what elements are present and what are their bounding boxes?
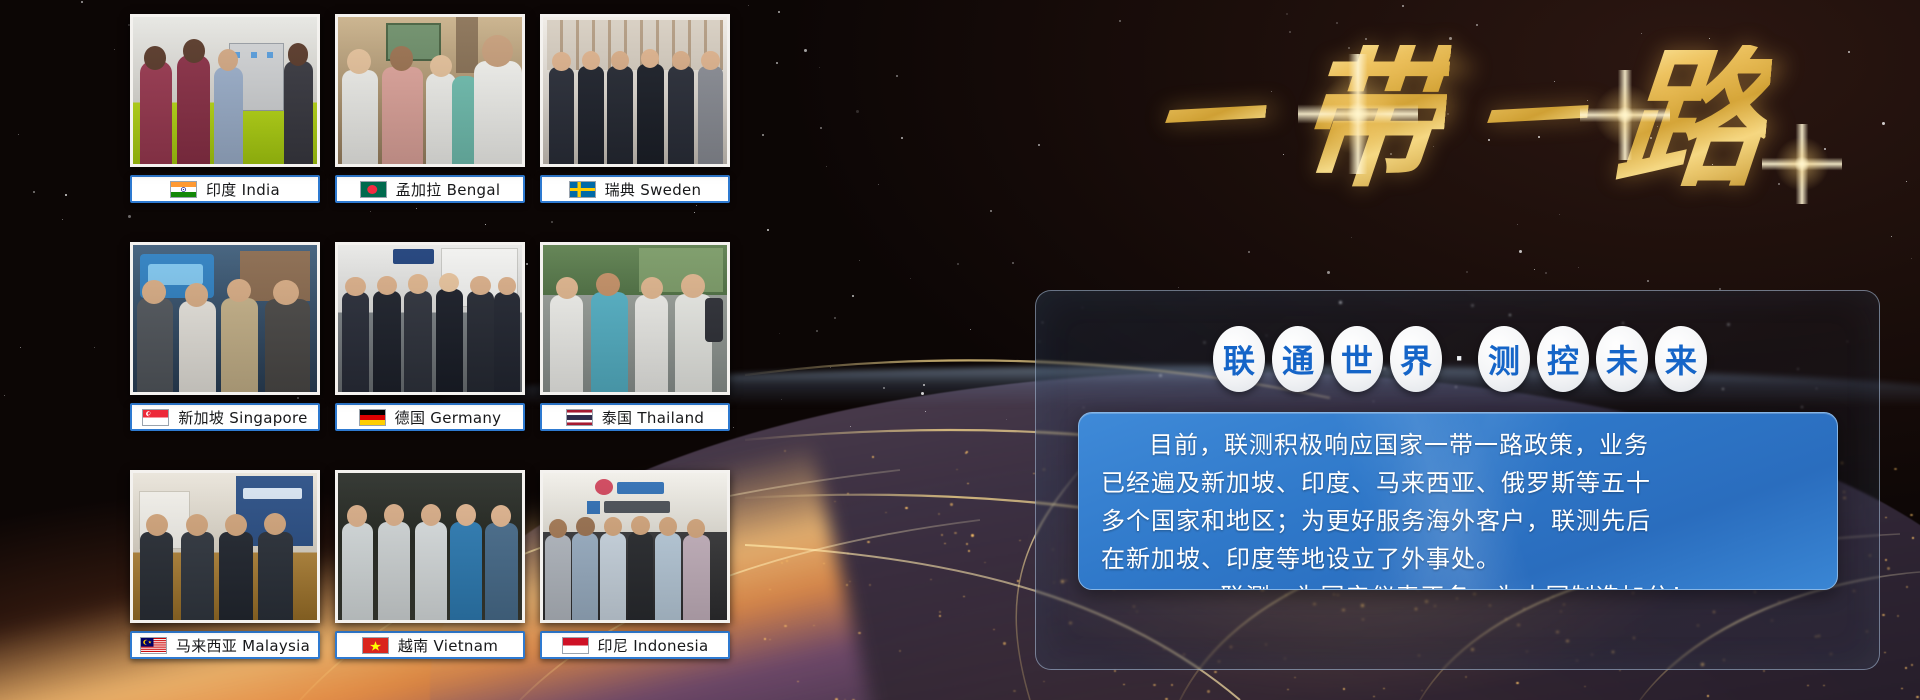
flag-vietnam-icon [362,637,389,654]
country-card[interactable]: 印度 India [130,14,320,222]
country-card[interactable]: 孟加拉 Bengal [335,14,525,222]
country-caption: 泰国 Thailand [540,403,730,431]
photo-vietnam-team-group[interactable] [335,470,525,623]
country-label: 印度 India [206,179,280,200]
slogan-char-pill: 测 [1478,326,1530,392]
country-label: 瑞典 Sweden [605,179,702,200]
country-label: 越南 Vietnam [398,635,498,656]
slogan-char-pill: 控 [1537,326,1589,392]
photo-india-exhibition-booth[interactable] [130,14,320,167]
country-caption: 新加坡 Singapore [130,403,320,431]
flag-germany-icon [359,409,386,426]
photo-bangladesh-factory-visit[interactable] [335,14,525,167]
slogan-char-pill: 界 [1390,326,1442,392]
headline-char-2: 带 [1288,45,1451,195]
country-caption: 孟加拉 Bengal [335,175,525,203]
photo-indonesia-ashcroft-office[interactable] [540,470,730,623]
country-label: 新加坡 Singapore [178,407,307,428]
photo-sweden-group-indoor[interactable] [540,14,730,167]
country-label: 德国 Germany [395,407,502,428]
country-caption: 印度 India [130,175,320,203]
country-card[interactable]: 新加坡 Singapore [130,242,320,450]
slogan-char-pill: 联 [1213,326,1265,392]
country-card[interactable]: 瑞典 Sweden [540,14,730,222]
description-line: 在新加坡、印度等地设立了外事处。 [1101,540,1815,578]
flag-india-icon [170,181,197,198]
slogan-row: 联通世界·测控未来 [1130,320,1790,398]
photo-singapore-office-group[interactable] [130,242,320,395]
photo-thailand-outdoor-group[interactable] [540,242,730,395]
description-line: 联测，为国产仪表正名，为中国制造加分！ [1101,578,1815,590]
country-card[interactable]: 越南 Vietnam [335,470,525,678]
description-line: 目前，联测积极响应国家一带一路政策，业务 [1101,426,1815,464]
slogan-char-pill: 未 [1596,326,1648,392]
headline-char-4: 路 [1610,45,1773,195]
country-label: 马来西亚 Malaysia [176,635,310,656]
photo-malaysia-expo-booth[interactable] [130,470,320,623]
country-card[interactable]: 德国 Germany [335,242,525,450]
country-label: 印尼 Indonesia [598,635,709,656]
headline-calligraphy: 一 带 一 路 [1020,12,1900,227]
country-label: 孟加拉 Bengal [396,179,501,200]
slogan-char-pill: 世 [1331,326,1383,392]
slogan-separator: · [1449,326,1471,392]
sparkle-icon [1762,124,1842,204]
flag-indonesia-icon [562,637,589,654]
photo-germany-jumo-group[interactable] [335,242,525,395]
country-photo-grid: 印度 India 孟加拉 Bengal 瑞典 Sweden [130,14,750,684]
country-card[interactable]: 泰国 Thailand [540,242,730,450]
description-line: 已经遍及新加坡、印度、马来西亚、俄罗斯等五十 [1101,464,1815,502]
country-label: 泰国 Thailand [602,407,705,428]
flag-malaysia-icon [140,637,167,654]
flag-singapore-icon [142,409,169,426]
country-caption: 越南 Vietnam [335,631,525,659]
country-card[interactable]: 印尼 Indonesia [540,470,730,678]
description-line: 多个国家和地区；为更好服务海外客户，联测先后 [1101,502,1815,540]
description-box: 目前，联测积极响应国家一带一路政策，业务 已经遍及新加坡、印度、马来西亚、俄罗斯… [1078,412,1838,590]
country-caption: 印尼 Indonesia [540,631,730,659]
flag-bangladesh-icon [360,181,387,198]
headline-char-3: 一 [1469,61,1594,179]
country-card[interactable]: 马来西亚 Malaysia [130,470,320,678]
slogan-char-pill: 通 [1272,326,1324,392]
country-caption: 瑞典 Sweden [540,175,730,203]
banner-stage: 印度 India 孟加拉 Bengal 瑞典 Sweden [0,0,1920,700]
country-caption: 马来西亚 Malaysia [130,631,320,659]
slogan-char-pill: 来 [1655,326,1707,392]
country-caption: 德国 Germany [335,403,525,431]
flag-thailand-icon [566,409,593,426]
flag-sweden-icon [569,181,596,198]
headline-char-1: 一 [1147,61,1272,179]
